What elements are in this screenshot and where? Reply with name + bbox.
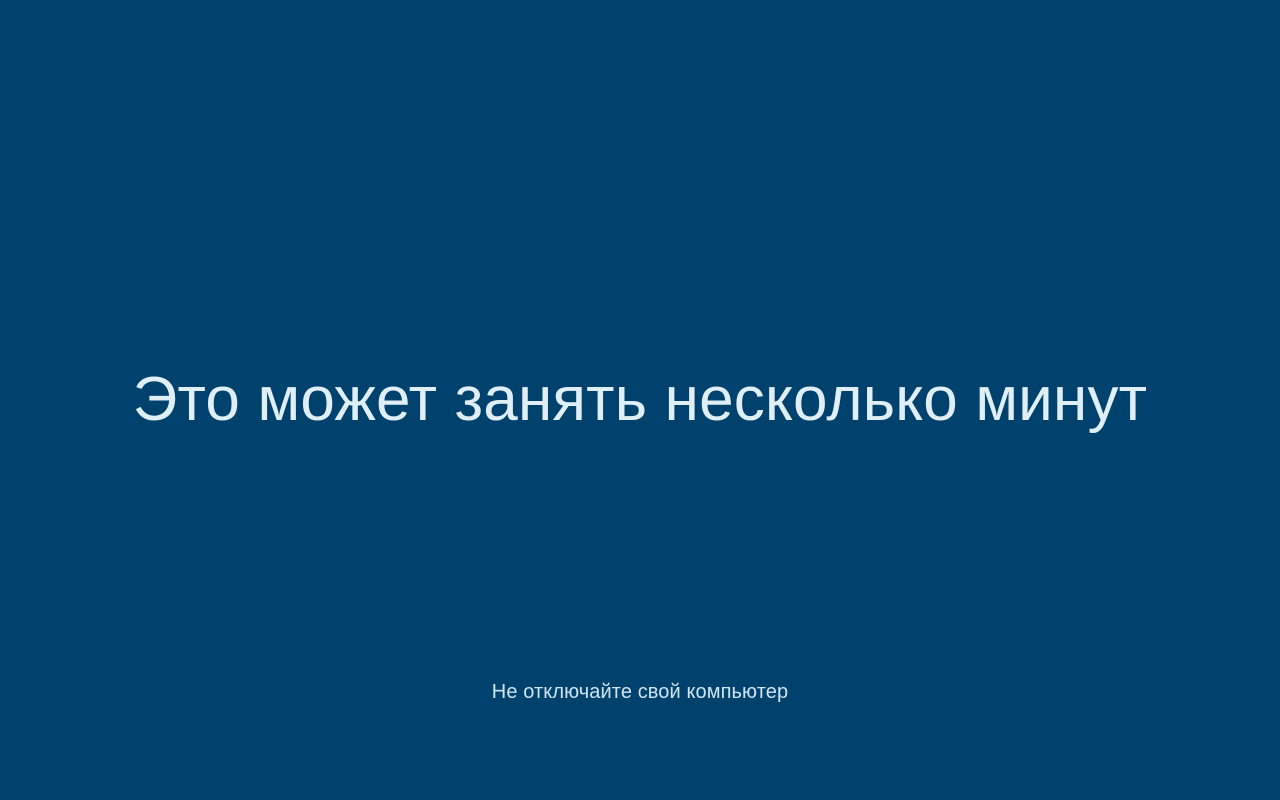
update-screen: Это может занять несколько минут Не откл… [0,0,1280,800]
primary-message: Это может занять несколько минут [0,366,1280,434]
secondary-message: Не отключайте свой компьютер [0,679,1280,705]
message-container: Это может занять несколько минут Не откл… [0,0,1280,800]
secondary-message-text: Не отключайте свой компьютер [492,679,788,705]
primary-message-text: Это может занять несколько минут [133,366,1148,434]
